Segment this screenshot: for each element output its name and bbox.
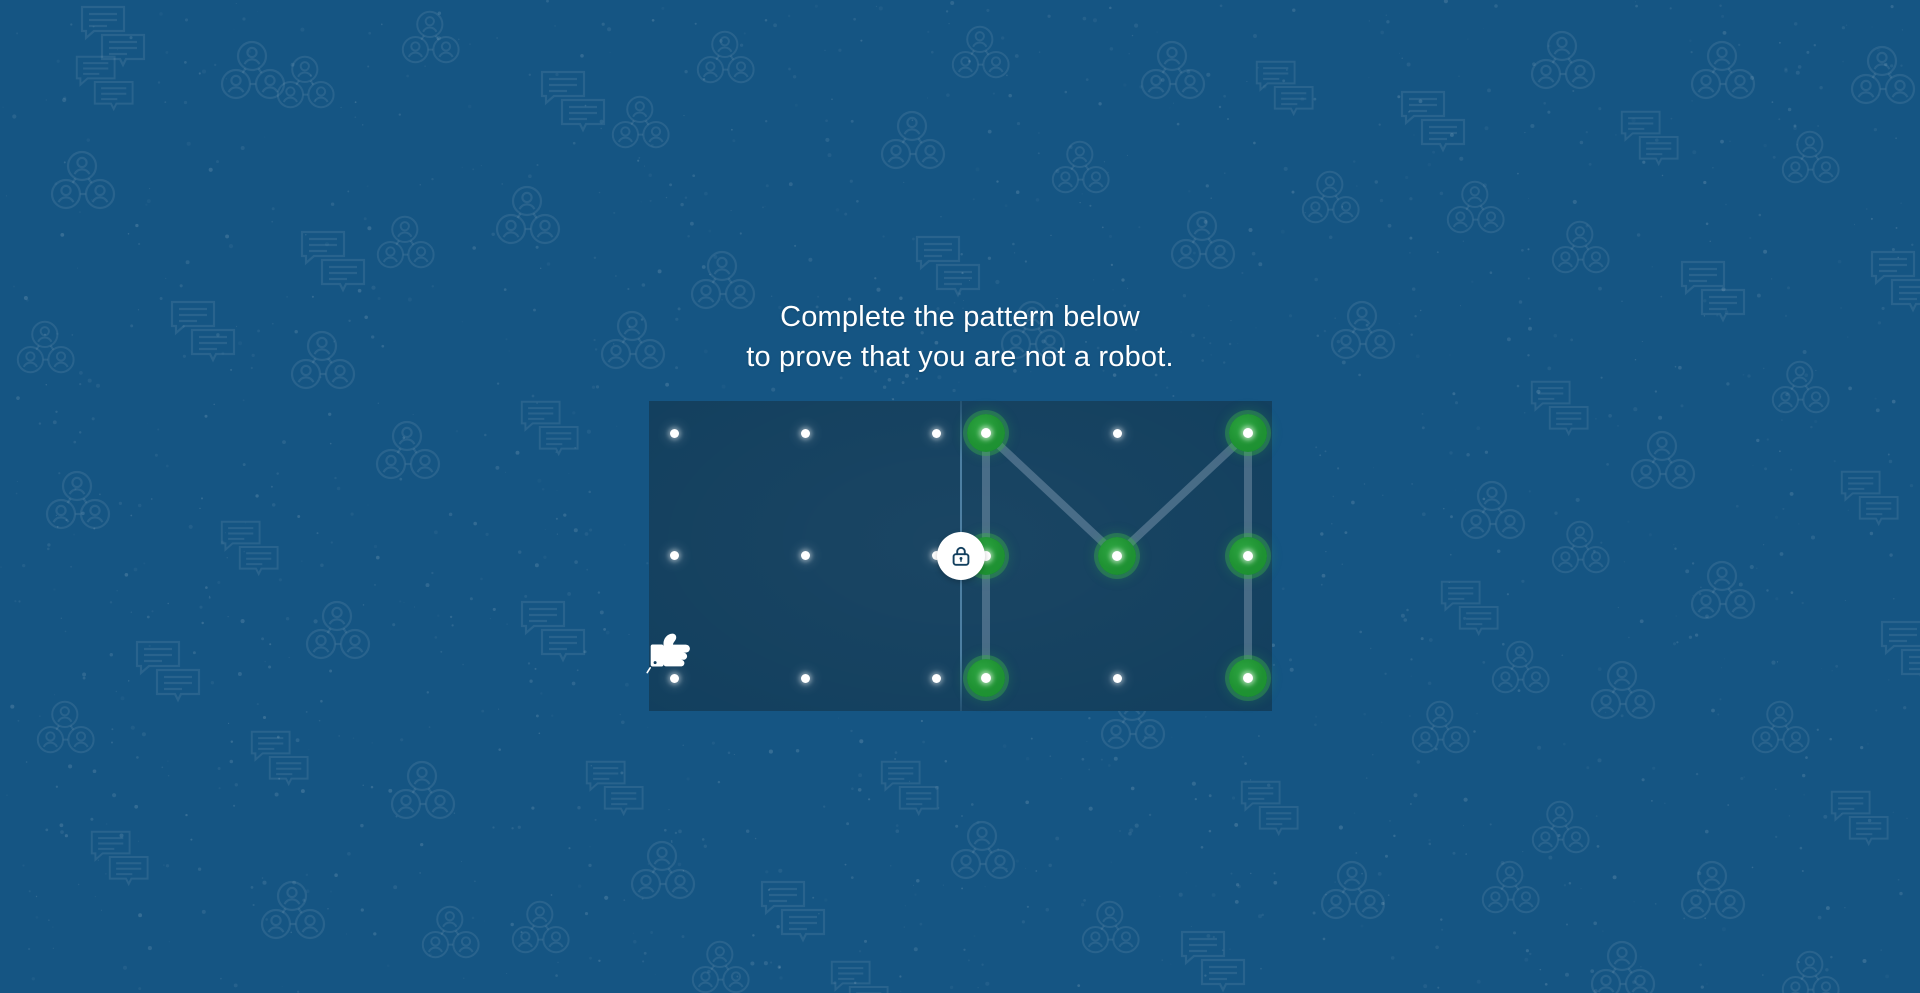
pattern-dot (932, 674, 941, 683)
chat-bubbles-icon (137, 642, 199, 700)
pattern-dot (670, 429, 679, 438)
user-group-icon (613, 97, 669, 147)
input-dot-slot-8[interactable] (910, 652, 962, 704)
user-group-icon (423, 907, 479, 957)
user-group-icon (1592, 662, 1654, 718)
chat-bubbles-icon (832, 962, 888, 993)
user-group-icon (513, 902, 569, 952)
user-group-icon (693, 942, 749, 992)
user-group-icon (1533, 802, 1589, 852)
captcha-panel[interactable] (649, 401, 1272, 711)
user-group-icon (1172, 212, 1234, 268)
user-group-icon (1632, 432, 1694, 488)
chat-bubbles-icon (302, 232, 364, 290)
user-group-icon (882, 112, 944, 168)
user-group-icon (1783, 132, 1839, 182)
pattern-dot-selected (967, 659, 1005, 697)
user-group-icon (632, 842, 694, 898)
user-group-icon (1592, 942, 1654, 993)
page-title-line1: Complete the pattern below (0, 297, 1920, 337)
user-group-icon (52, 152, 114, 208)
chat-bubbles-icon (542, 72, 604, 130)
pattern-dot-selected (1098, 537, 1136, 575)
user-group-icon (1083, 902, 1139, 952)
user-group-icon (38, 702, 94, 752)
user-group-icon (1692, 42, 1754, 98)
page-title-line2: to prove that you are not a robot. (0, 337, 1920, 377)
pattern-dot (1113, 674, 1122, 683)
user-group-icon (1553, 222, 1609, 272)
pattern-dot (932, 429, 941, 438)
pattern-dot-selected (1229, 537, 1267, 575)
user-group-icon (377, 422, 439, 478)
pattern-dot (801, 429, 810, 438)
pattern-dot (801, 551, 810, 560)
user-group-icon (1682, 862, 1744, 918)
chat-bubbles-icon (1882, 622, 1920, 680)
user-group-icon (1753, 702, 1809, 752)
pattern-input-grid[interactable] (674, 433, 936, 678)
pattern-dot-selected (967, 414, 1005, 452)
user-group-icon (1692, 562, 1754, 618)
lock-closed-icon (949, 544, 973, 568)
input-dot-slot-4[interactable] (779, 530, 831, 582)
user-group-icon (1462, 482, 1524, 538)
user-group-icon (1553, 522, 1609, 572)
user-group-icon (1053, 142, 1109, 192)
user-group-icon (307, 602, 369, 658)
chat-bubbles-icon (522, 402, 578, 454)
pattern-dot-selected (1229, 414, 1267, 452)
target-dot-slot-7 (1091, 652, 1143, 704)
chat-bubbles-icon (1257, 62, 1313, 114)
pattern-dot (1113, 429, 1122, 438)
chat-bubbles-icon (1242, 782, 1298, 834)
chat-bubbles-icon (1842, 472, 1898, 524)
chat-bubbles-icon (882, 762, 938, 814)
input-dot-slot-7[interactable] (779, 652, 831, 704)
target-dot-slot-1 (1091, 407, 1143, 459)
user-group-icon (403, 12, 459, 62)
chat-bubbles-icon (1832, 792, 1888, 844)
chat-bubbles-icon (522, 602, 584, 660)
user-group-icon (262, 882, 324, 938)
target-dot-slot-8 (1222, 652, 1274, 704)
user-group-icon (1303, 172, 1359, 222)
user-group-icon (278, 57, 334, 107)
target-dot-slot-0 (960, 407, 1012, 459)
captcha-page: Complete the pattern below to prove that… (0, 0, 1920, 993)
target-dot-slot-6 (960, 652, 1012, 704)
chat-bubbles-icon (1402, 92, 1464, 150)
user-group-icon (497, 187, 559, 243)
chat-bubbles-icon (77, 57, 133, 109)
user-group-icon (698, 32, 754, 82)
user-group-icon (1783, 952, 1839, 993)
page-title: Complete the pattern below to prove that… (0, 297, 1920, 377)
target-dot-slot-2 (1222, 407, 1274, 459)
input-dot-slot-0[interactable] (648, 407, 700, 459)
input-dot-slot-3[interactable] (648, 530, 700, 582)
chat-bubbles-icon (222, 522, 278, 574)
chat-bubbles-icon (92, 832, 148, 884)
user-group-icon (1322, 862, 1384, 918)
user-group-icon (1483, 862, 1539, 912)
pattern-dot (670, 551, 679, 560)
chat-bubbles-icon (917, 237, 979, 295)
user-group-icon (1493, 642, 1549, 692)
user-group-icon (222, 42, 284, 98)
target-dot-slot-4 (1091, 530, 1143, 582)
user-group-icon (378, 217, 434, 267)
chat-bubbles-icon (252, 732, 308, 784)
input-dot-slot-2[interactable] (910, 407, 962, 459)
user-group-icon (953, 27, 1009, 77)
user-group-icon (1852, 47, 1914, 103)
lock-badge (937, 532, 985, 580)
chat-bubbles-icon (1442, 582, 1498, 634)
input-dot-slot-1[interactable] (779, 407, 831, 459)
target-dot-slot-5 (1222, 530, 1274, 582)
chat-bubbles-icon (762, 882, 824, 940)
chat-bubbles-icon (82, 7, 144, 65)
user-group-icon (952, 822, 1014, 878)
user-group-icon (1413, 702, 1469, 752)
pattern-dot (801, 674, 810, 683)
pattern-target-grid (986, 433, 1248, 678)
chat-bubbles-icon (1182, 932, 1244, 990)
pattern-target-half (961, 401, 1272, 711)
chat-bubbles-icon (1622, 112, 1678, 164)
user-group-icon (47, 472, 109, 528)
chat-bubbles-icon (1532, 382, 1588, 434)
user-group-icon (392, 762, 454, 818)
pointing-hand-icon (646, 627, 702, 677)
pattern-dot-selected (1229, 659, 1267, 697)
user-group-icon (1142, 42, 1204, 98)
user-group-icon (1448, 182, 1504, 232)
chat-bubbles-icon (587, 762, 643, 814)
user-group-icon (1532, 32, 1594, 88)
